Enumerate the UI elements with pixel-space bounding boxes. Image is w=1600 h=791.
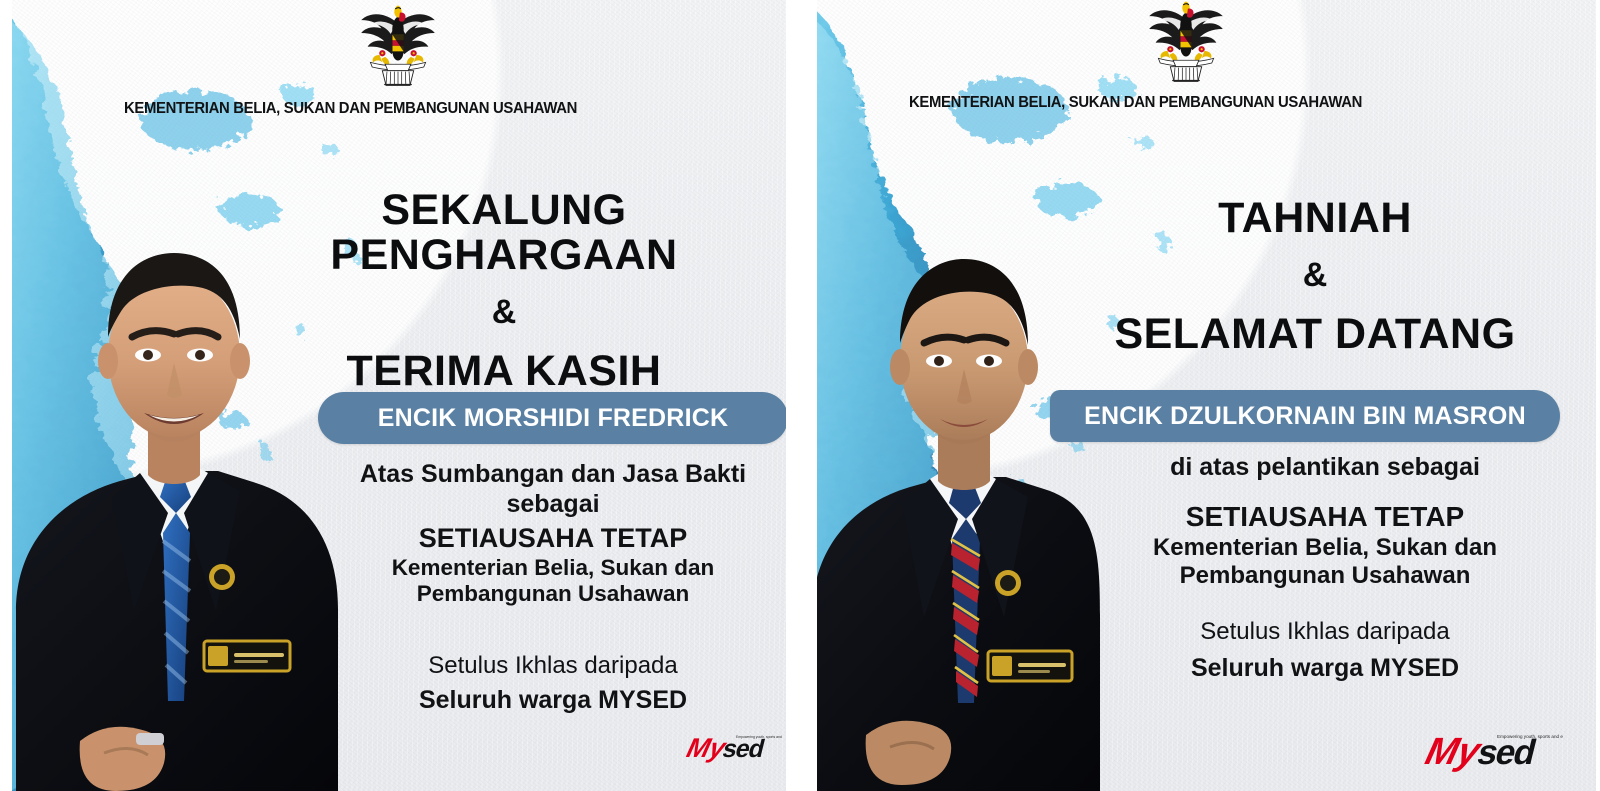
headline-line-1: SEKALUNG PENGHARGAAN bbox=[220, 188, 788, 278]
poster-gap bbox=[790, 0, 805, 791]
mysed-logo: My sed Empowering youth, sports and entr… bbox=[1413, 726, 1563, 772]
citation-line-4: Pembangunan Usahawan bbox=[1090, 562, 1560, 591]
citation-block: di atas pelantikan sebagai SETIAUSAHA TE… bbox=[1090, 452, 1560, 591]
poster-left-margin bbox=[805, 0, 817, 791]
headline-block: TAHNIAH & SELAMAT DATANG bbox=[1035, 196, 1595, 357]
citation-line-4: Kementerian Belia, Sukan dan bbox=[318, 555, 788, 582]
svg-text:Empowering youth, sports and e: Empowering youth, sports and entrepreneu… bbox=[736, 735, 782, 739]
honoree-name: ENCIK DZULKORNAIN BIN MASRON bbox=[1084, 402, 1526, 431]
closing-bold-line: Seluruh warga MYSED bbox=[318, 686, 788, 715]
headline-line-1: TAHNIAH bbox=[1035, 196, 1595, 241]
citation-line-1: Atas Sumbangan dan Jasa Bakti bbox=[318, 460, 788, 490]
citation-line-5: Pembangunan Usahawan bbox=[318, 581, 788, 608]
citation-position: SETIAUSAHA TETAP bbox=[1090, 500, 1560, 534]
closing-block: Setulus Ikhlas daripada Seluruh warga MY… bbox=[318, 652, 788, 715]
headline-line-2: SELAMAT DATANG bbox=[1035, 312, 1595, 357]
ministry-title: KEMENTERIAN BELIA, SUKAN DAN PEMBANGUNAN… bbox=[124, 100, 577, 118]
poster-right-margin bbox=[786, 0, 790, 791]
closing-light-line: Setulus Ikhlas daripada bbox=[318, 652, 788, 680]
sarawak-state-crest-icon bbox=[352, 0, 444, 90]
headline-ampersand: & bbox=[220, 294, 788, 331]
honoree-name-banner: ENCIK MORSHIDI FREDRICK bbox=[318, 392, 788, 444]
honoree-name: ENCIK MORSHIDI FREDRICK bbox=[378, 404, 728, 433]
headline-line-2: TERIMA KASIH bbox=[220, 349, 788, 394]
citation-block: Atas Sumbangan dan Jasa Bakti sebagai SE… bbox=[318, 460, 788, 608]
poster-right-margin bbox=[1596, 0, 1600, 791]
sarawak-state-crest-icon bbox=[1140, 0, 1232, 86]
citation-line-1: di atas pelantikan sebagai bbox=[1090, 452, 1560, 482]
closing-bold-line: Seluruh warga MYSED bbox=[1090, 654, 1560, 683]
citation-position: SETIAUSAHA TETAP bbox=[318, 523, 788, 555]
poster-pair: KEMENTERIAN BELIA, SUKAN DAN PEMBANGUNAN… bbox=[0, 0, 1600, 791]
citation-line-3: Kementerian Belia, Sukan dan bbox=[1090, 534, 1560, 563]
poster-appreciation: KEMENTERIAN BELIA, SUKAN DAN PEMBANGUNAN… bbox=[0, 0, 790, 791]
mysed-logo: My sed Empowering youth, sports and entr… bbox=[678, 730, 782, 764]
poster-welcome: KEMENTERIAN BELIA, SUKAN DAN PEMBANGUNAN… bbox=[805, 0, 1600, 791]
headline-block: SEKALUNG PENGHARGAAN & TERIMA KASIH bbox=[220, 188, 788, 394]
svg-text:sed: sed bbox=[720, 735, 767, 763]
headline-ampersand: & bbox=[1035, 257, 1595, 294]
poster-left-margin bbox=[0, 0, 12, 791]
citation-line-2: sebagai bbox=[318, 490, 788, 520]
ministry-title: KEMENTERIAN BELIA, SUKAN DAN PEMBANGUNAN… bbox=[909, 94, 1362, 112]
closing-block: Setulus Ikhlas daripada Seluruh warga MY… bbox=[1090, 618, 1560, 683]
svg-text:Empowering youth, sports and e: Empowering youth, sports and entrepreneu… bbox=[1497, 734, 1563, 739]
honoree-name-banner: ENCIK DZULKORNAIN BIN MASRON bbox=[1050, 390, 1560, 442]
closing-light-line: Setulus Ikhlas daripada bbox=[1090, 618, 1560, 646]
